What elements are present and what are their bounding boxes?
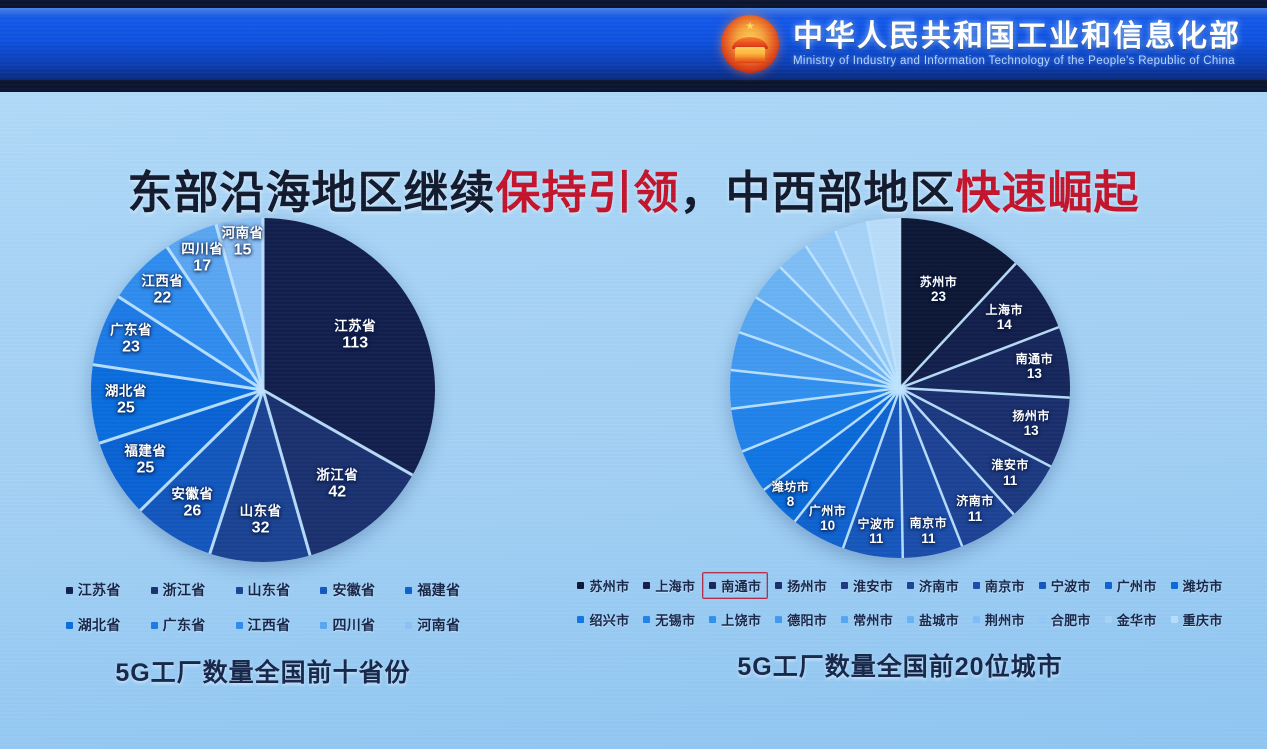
- legend-item-2[interactable]: 南通市: [702, 572, 768, 599]
- pie-slice-value: 32: [240, 519, 282, 538]
- pie-slice-name: 淮安市: [991, 458, 1029, 472]
- legend-label: 南京市: [985, 576, 1025, 595]
- legend-item-2[interactable]: 山东省: [221, 576, 306, 604]
- legend-label: 江西省: [248, 615, 291, 635]
- legend-item-16[interactable]: 荆州市: [966, 606, 1032, 633]
- legend-color-swatch: [973, 616, 980, 623]
- legend-item-0[interactable]: 江苏省: [51, 576, 136, 604]
- legend-label: 安徽省: [332, 580, 375, 600]
- legend-item-6[interactable]: 南京市: [966, 572, 1032, 599]
- pie-chart-provinces[interactable]: 江苏省113浙江省42山东省32安徽省26福建省25湖北省25广东省23江西省2…: [91, 218, 435, 562]
- pie-slice-name: 济南市: [956, 494, 994, 508]
- legend-color-swatch: [643, 616, 650, 623]
- legend-color-swatch: [709, 616, 716, 623]
- pie-slice-value: 23: [110, 339, 152, 358]
- legend-color-swatch: [151, 622, 158, 629]
- legend-label: 淮安市: [853, 576, 893, 595]
- legend-item-3[interactable]: 扬州市: [768, 572, 834, 599]
- pie-slice-label: 江西省22: [141, 274, 183, 309]
- pie-slice-label: 扬州市13: [1012, 409, 1050, 439]
- ministry-header-banner: ★ 中华人民共和国工业和信息化部 Ministry of Industry an…: [0, 0, 1267, 92]
- pie-slice-value: 26: [171, 503, 213, 522]
- pie-slice-name: 安徽省: [171, 487, 213, 503]
- legend-color-swatch: [841, 582, 848, 589]
- pie-chart-cities-wrapper: 苏州市23上海市14南通市13扬州市13淮安市11济南市11南京市11宁波市11…: [730, 218, 1070, 558]
- legend-item-8[interactable]: 四川省: [305, 611, 390, 639]
- pie-slice-label: 宁波市11: [858, 517, 896, 547]
- legend-color-swatch: [709, 582, 716, 589]
- legend-item-14[interactable]: 常州市: [834, 606, 900, 633]
- legend-color-swatch: [577, 616, 584, 623]
- legend-color-swatch: [1171, 582, 1178, 589]
- pie-chart-cities[interactable]: 苏州市23上海市14南通市13扬州市13淮安市11济南市11南京市11宁波市11…: [730, 218, 1070, 558]
- legend-item-3[interactable]: 安徽省: [305, 576, 390, 604]
- caption-cities: 5G工厂数量全国前20位城市: [560, 647, 1240, 683]
- pie-slice-name: 潍坊市: [772, 480, 810, 494]
- pie-slice-value: 17: [181, 257, 223, 276]
- legend-color-swatch: [405, 622, 412, 629]
- legend-item-1[interactable]: 浙江省: [136, 576, 221, 604]
- legend-color-swatch: [643, 582, 650, 589]
- pie-slice-label: 南京市11: [910, 516, 948, 546]
- ministry-title-block: 中华人民共和国工业和信息化部 Ministry of Industry and …: [793, 21, 1241, 68]
- pie-slice-separators: [730, 218, 1070, 558]
- legend-color-swatch: [577, 582, 584, 589]
- pie-slice-value: 113: [334, 335, 376, 354]
- pie-slice-name: 宁波市: [858, 517, 896, 531]
- pie-slice-value: 11: [858, 531, 896, 547]
- pie-slice-name: 广东省: [110, 323, 152, 339]
- pie-slice-name: 四川省: [181, 242, 223, 258]
- pie-slice-name: 河南省: [222, 226, 264, 242]
- pie-slice-label: 河南省15: [222, 226, 264, 261]
- legend-color-swatch: [151, 587, 158, 594]
- legend-label: 济南市: [919, 576, 959, 595]
- pie-slice-label: 南通市13: [1016, 352, 1054, 382]
- header-content: ★ 中华人民共和国工业和信息化部 Ministry of Industry an…: [721, 8, 1241, 80]
- legend-color-swatch: [1039, 582, 1046, 589]
- legend-color-swatch: [1039, 616, 1046, 623]
- legend-label: 金华市: [1117, 610, 1157, 629]
- legend-item-10[interactable]: 绍兴市: [570, 606, 636, 633]
- national-emblem-icon: ★: [721, 15, 779, 73]
- legend-color-swatch: [1105, 616, 1112, 623]
- legend-label: 苏州市: [589, 576, 629, 595]
- chart-panel-provinces: 江苏省113浙江省42山东省32安徽省26福建省25湖北省25广东省23江西省2…: [28, 218, 498, 689]
- pie-slice-label: 四川省17: [181, 242, 223, 277]
- legend-item-5[interactable]: 济南市: [900, 572, 966, 599]
- pie-slice-value: 11: [991, 472, 1029, 488]
- pie-slice-label: 济南市11: [956, 494, 994, 524]
- legend-label: 盐城市: [919, 610, 959, 629]
- title-highlight-2: 快速崛起: [956, 167, 1140, 218]
- legend-color-swatch: [1171, 616, 1178, 623]
- legend-color-swatch: [66, 622, 73, 629]
- presentation-slide: ★ 中华人民共和国工业和信息化部 Ministry of Industry an…: [0, 0, 1267, 749]
- pie-slice-value: 8: [772, 494, 810, 510]
- legend-item-9[interactable]: 潍坊市: [1164, 572, 1230, 599]
- legend-color-swatch: [320, 622, 327, 629]
- caption-provinces: 5G工厂数量全国前十省份: [28, 653, 498, 689]
- legend-item-11[interactable]: 无锡市: [636, 606, 702, 633]
- legend-color-swatch: [405, 587, 412, 594]
- legend-item-7[interactable]: 江西省: [221, 611, 306, 639]
- legend-provinces: 江苏省浙江省山东省安徽省福建省湖北省广东省江西省四川省河南省: [28, 576, 498, 639]
- title-segment-2: 中西部地区: [726, 167, 956, 218]
- legend-label: 江苏省: [78, 580, 121, 600]
- legend-item-5[interactable]: 湖北省: [51, 611, 136, 639]
- pie-slice-name: 江苏省: [334, 319, 376, 335]
- legend-label: 广东省: [163, 615, 206, 635]
- legend-label: 河南省: [417, 615, 460, 635]
- pie-slice-value: 25: [124, 460, 166, 479]
- pie-slice-name: 福建省: [124, 444, 166, 460]
- legend-label: 福建省: [417, 580, 460, 600]
- legend-item-19[interactable]: 重庆市: [1164, 606, 1230, 633]
- pie-slice-name: 山东省: [240, 503, 282, 519]
- legend-item-13[interactable]: 德阳市: [768, 606, 834, 633]
- legend-label: 南通市: [721, 576, 761, 595]
- pie-slice-name: 南通市: [1016, 352, 1054, 366]
- legend-label: 扬州市: [787, 576, 827, 595]
- legend-item-15[interactable]: 盐城市: [900, 606, 966, 633]
- legend-item-7[interactable]: 宁波市: [1032, 572, 1098, 599]
- pie-slice-name: 南京市: [910, 516, 948, 530]
- pie-slice-value: 25: [105, 400, 147, 419]
- pie-slice-label: 上海市14: [985, 303, 1023, 333]
- legend-row: 湖北省广东省江西省四川省河南省: [28, 611, 498, 639]
- legend-color-swatch: [973, 582, 980, 589]
- pie-slice-label: 淮安市11: [991, 458, 1029, 488]
- legend-label: 潍坊市: [1183, 576, 1223, 595]
- legend-row: 江苏省浙江省山东省安徽省福建省: [28, 576, 498, 604]
- legend-color-swatch: [66, 587, 73, 594]
- pie-slice-label: 潍坊市8: [772, 480, 810, 510]
- legend-item-6[interactable]: 广东省: [136, 611, 221, 639]
- pie-slice-label: 安徽省26: [171, 487, 213, 522]
- pie-slice-label: 广东省23: [110, 323, 152, 358]
- pie-slice-name: 湖北省: [105, 384, 147, 400]
- pie-slice-name: 上海市: [985, 303, 1023, 317]
- legend-item-4[interactable]: 福建省: [390, 576, 475, 604]
- pie-slice-value: 13: [1016, 366, 1054, 382]
- pie-slice-value: 11: [956, 509, 994, 525]
- chart-panel-cities: 苏州市23上海市14南通市13扬州市13淮安市11济南市11南京市11宁波市11…: [560, 218, 1240, 683]
- pie-slice-name: 广州市: [809, 504, 847, 518]
- pie-slice-value: 42: [316, 483, 358, 502]
- legend-label: 上饶市: [721, 610, 761, 629]
- legend-label: 重庆市: [1183, 610, 1223, 629]
- legend-label: 合肥市: [1051, 610, 1091, 629]
- legend-color-swatch: [907, 582, 914, 589]
- pie-slice-label: 湖北省25: [105, 384, 147, 419]
- legend-label: 无锡市: [655, 610, 695, 629]
- pie-slice-value: 22: [141, 290, 183, 309]
- ministry-name-english: Ministry of Industry and Information Tec…: [793, 55, 1241, 67]
- legend-item-0[interactable]: 苏州市: [570, 572, 636, 599]
- legend-color-swatch: [236, 622, 243, 629]
- legend-color-swatch: [775, 582, 782, 589]
- pie-slice-label: 福建省25: [124, 444, 166, 479]
- pie-slice-label: 江苏省113: [334, 319, 376, 354]
- legend-row: 绍兴市无锡市上饶市德阳市常州市盐城市荆州市合肥市金华市重庆市: [560, 606, 1240, 633]
- pie-slice-name: 江西省: [141, 274, 183, 290]
- legend-label: 荆州市: [985, 610, 1025, 629]
- pie-slice-value: 10: [809, 518, 847, 534]
- title-segment-1: 东部沿海地区继续: [127, 167, 495, 218]
- legend-item-12[interactable]: 上饶市: [702, 606, 768, 633]
- legend-item-4[interactable]: 淮安市: [834, 572, 900, 599]
- pie-slice-value: 15: [222, 242, 264, 261]
- legend-label: 德阳市: [787, 610, 827, 629]
- pie-slice-separators: [91, 218, 435, 562]
- pie-slice-name: 浙江省: [316, 467, 358, 483]
- legend-row: 苏州市上海市南通市扬州市淮安市济南市南京市宁波市广州市潍坊市: [560, 572, 1240, 599]
- legend-color-swatch: [841, 616, 848, 623]
- ministry-name-chinese: 中华人民共和国工业和信息化部: [793, 21, 1241, 53]
- pie-slice-label: 山东省32: [240, 503, 282, 538]
- legend-label: 四川省: [332, 615, 375, 635]
- legend-label: 宁波市: [1051, 576, 1091, 595]
- legend-color-swatch: [236, 587, 243, 594]
- legend-label: 浙江省: [163, 580, 206, 600]
- pie-chart-provinces-wrapper: 江苏省113浙江省42山东省32安徽省26福建省25湖北省25广东省23江西省2…: [91, 218, 435, 562]
- pie-slice-value: 11: [910, 531, 948, 547]
- pie-slice-name: 扬州市: [1012, 409, 1050, 423]
- pie-slice-label: 苏州市23: [920, 275, 958, 305]
- legend-label: 常州市: [853, 610, 893, 629]
- emblem-gate: [735, 47, 765, 63]
- slide-title: 东部沿海地区继续保持引领，中西部地区快速崛起: [0, 156, 1267, 221]
- legend-label: 湖北省: [78, 615, 121, 635]
- legend-label: 山东省: [248, 580, 291, 600]
- pie-slice-value: 14: [985, 317, 1023, 333]
- title-comma: ，: [679, 167, 725, 218]
- pie-slice-value: 13: [1012, 423, 1050, 439]
- legend-item-1[interactable]: 上海市: [636, 572, 702, 599]
- emblem-star: ★: [745, 21, 755, 32]
- legend-label: 广州市: [1117, 576, 1157, 595]
- legend-item-8[interactable]: 广州市: [1098, 572, 1164, 599]
- legend-label: 上海市: [655, 576, 695, 595]
- pie-slice-name: 苏州市: [920, 275, 958, 289]
- legend-color-swatch: [907, 616, 914, 623]
- legend-item-9[interactable]: 河南省: [390, 611, 475, 639]
- pie-slice-value: 23: [920, 289, 958, 305]
- legend-color-swatch: [320, 587, 327, 594]
- legend-color-swatch: [775, 616, 782, 623]
- pie-slice-label: 广州市10: [809, 504, 847, 534]
- title-highlight-1: 保持引领: [495, 167, 679, 218]
- legend-color-swatch: [1105, 582, 1112, 589]
- legend-cities: 苏州市上海市南通市扬州市淮安市济南市南京市宁波市广州市潍坊市绍兴市无锡市上饶市德…: [560, 572, 1240, 633]
- legend-item-18[interactable]: 金华市: [1098, 606, 1164, 633]
- pie-slice-label: 浙江省42: [316, 467, 358, 502]
- legend-item-17[interactable]: 合肥市: [1032, 606, 1098, 633]
- legend-label: 绍兴市: [589, 610, 629, 629]
